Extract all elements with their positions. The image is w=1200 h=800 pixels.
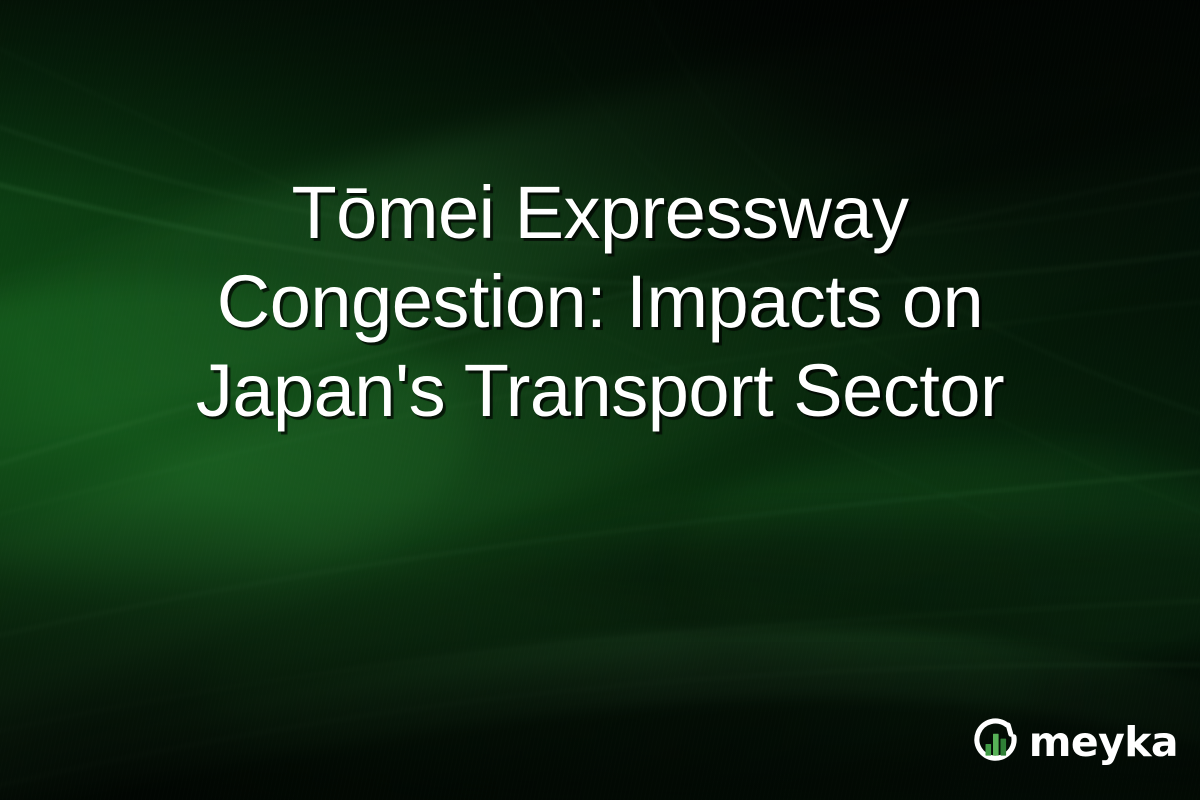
page-title: Tōmei Expressway Congestion: Impacts on … — [0, 168, 1200, 435]
logo-bar-right — [1000, 739, 1006, 756]
logo-bar-middle — [993, 734, 999, 756]
title-line-3: Japan's Transport Sector — [60, 346, 1140, 435]
title-line-1: Tōmei Expressway — [60, 168, 1140, 257]
logo-bar-left — [985, 744, 991, 756]
meyka-circular-bar-chart-icon — [970, 716, 1022, 768]
title-line-2: Congestion: Impacts on — [60, 257, 1140, 346]
title-card: Tōmei Expressway Congestion: Impacts on … — [0, 0, 1200, 800]
meyka-logo[interactable]: meyka — [970, 716, 1178, 768]
meyka-wordmark: meyka — [1029, 722, 1178, 763]
